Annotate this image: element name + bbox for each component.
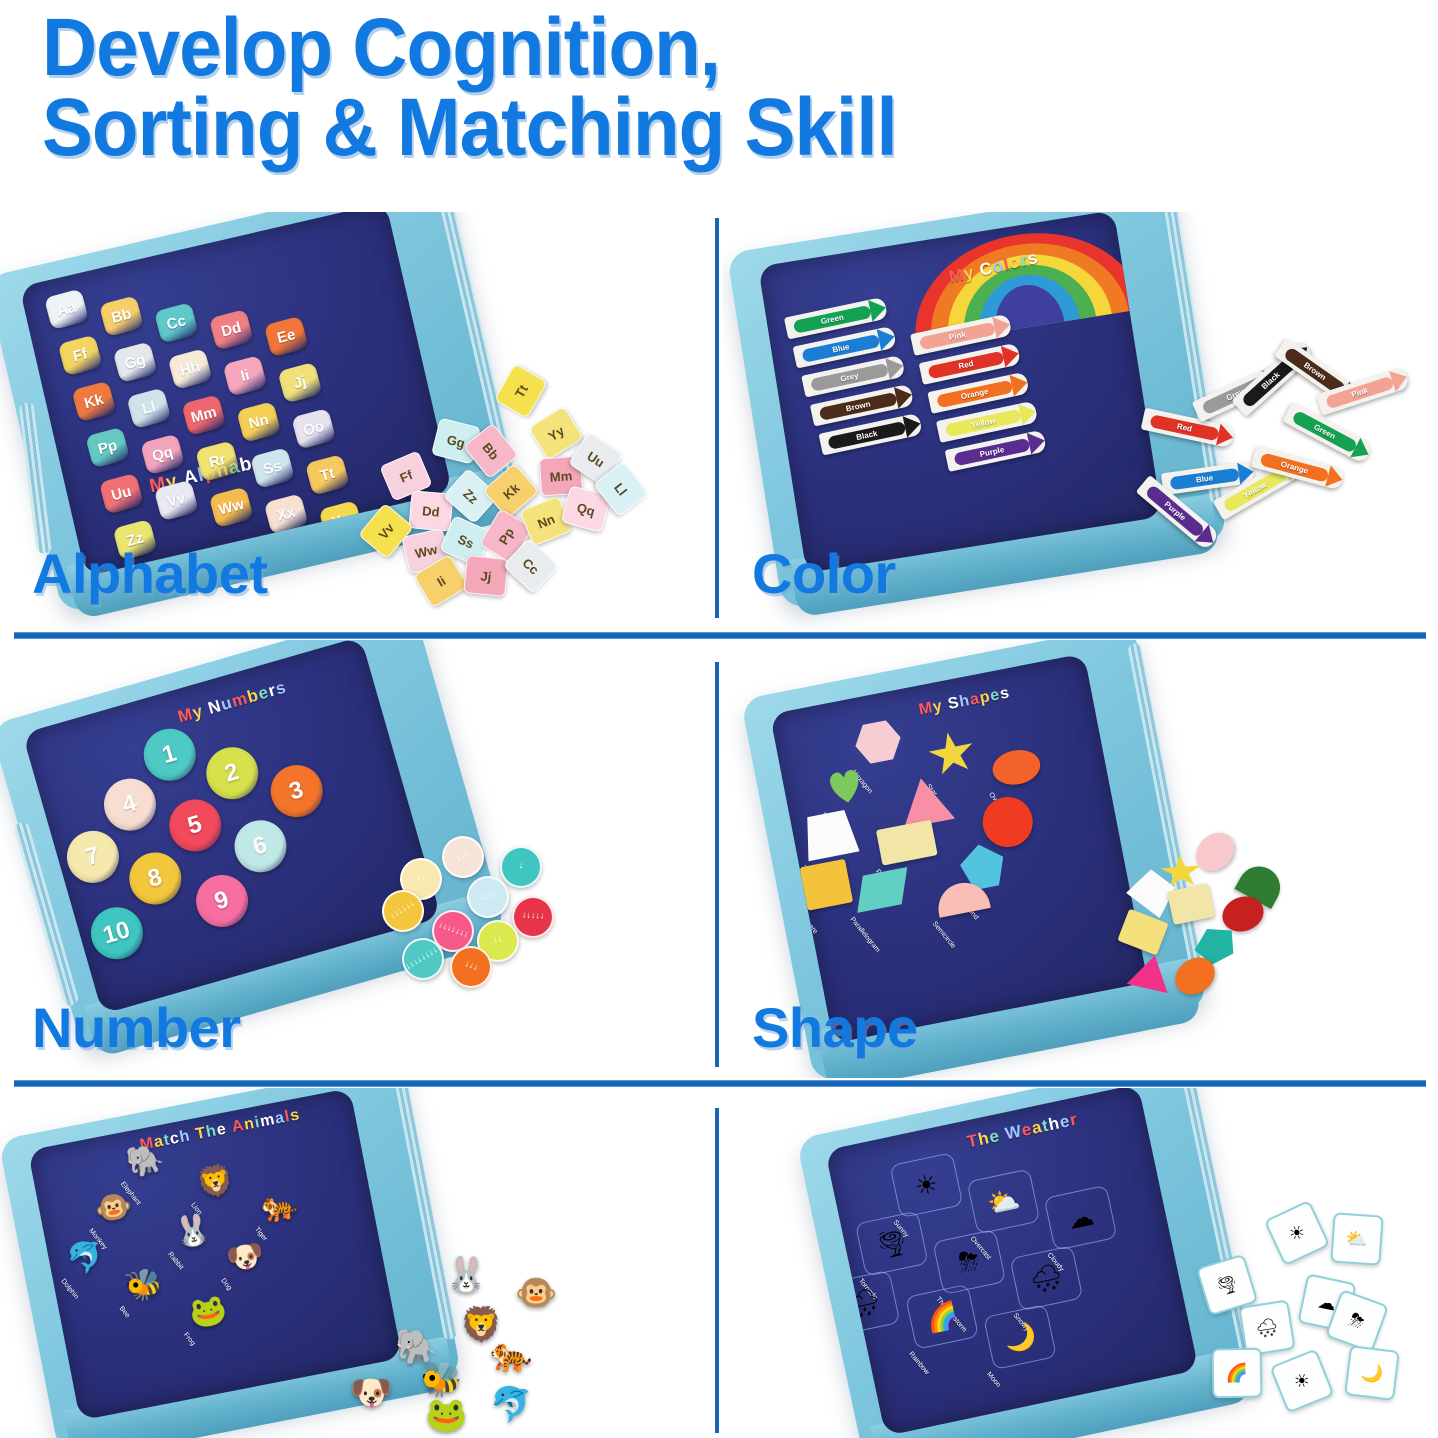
crayon-tip-icon xyxy=(1010,372,1030,397)
weather-sunny-cell[interactable]: ☀ xyxy=(890,1152,964,1218)
panel-animal: Match The Animals 🐘Elephant🦁Lion🐵Monkey🐅… xyxy=(0,1088,712,1438)
weather-card[interactable]: 🌈 xyxy=(1212,1348,1263,1399)
shape-label: Semicircle xyxy=(931,920,957,950)
shape-parallelogram[interactable] xyxy=(850,866,914,912)
number-circle-8[interactable]: 8 xyxy=(123,846,187,910)
loose-shape-pieces[interactable] xyxy=(1122,835,1372,1025)
weather-card[interactable]: ☀ xyxy=(1269,1348,1334,1413)
letter-tile-gg[interactable]: Gg xyxy=(112,342,157,384)
crayon-label: Yellow xyxy=(945,408,1022,437)
loose-crayons[interactable]: RedGreyBlackBrownPinkGreenBluePurpleYell… xyxy=(1132,362,1432,592)
crayon-label: Black xyxy=(827,420,906,449)
cover-title-weather: The Weather xyxy=(965,1109,1080,1152)
number-circle-10[interactable]: 10 xyxy=(84,901,148,965)
loose-animal-piece[interactable]: 🐝 xyxy=(420,1363,462,1397)
crayon-tip-icon xyxy=(894,384,914,409)
crayon-tip-icon xyxy=(903,413,923,438)
weather-card[interactable]: ⛅ xyxy=(1330,1212,1383,1265)
letter-tile-ii[interactable]: Ii xyxy=(222,355,267,397)
animal-elephant-icon[interactable]: 🐘 xyxy=(124,1143,166,1180)
letter-tile-jj[interactable]: Jj xyxy=(277,362,322,404)
weather-rainy-icon: 🌧 xyxy=(844,1284,883,1321)
crayon-tip-icon xyxy=(1389,366,1410,392)
weather-label: Rainy xyxy=(829,1337,846,1355)
letter-tile-ll[interactable]: Ll xyxy=(126,388,171,430)
crayon-tip-icon xyxy=(886,355,906,380)
letter-tile-tt[interactable]: Tt xyxy=(304,454,349,496)
animal-label: Dog xyxy=(219,1277,233,1291)
weather-card[interactable]: 🌙 xyxy=(1344,1345,1400,1401)
animal-lion-icon[interactable]: 🦁 xyxy=(194,1164,236,1201)
alphabet-tile-grid: AaBbCcDdEeFfGgHhIiJjKkLlMmNnOoPpQqRrSsTt… xyxy=(19,212,385,287)
panel-label-shape: Shape xyxy=(752,995,918,1060)
letter-tile-ee[interactable]: Ee xyxy=(263,316,308,358)
weather-label: Moon xyxy=(985,1371,1002,1389)
loose-animal-piece[interactable]: 🐅 xyxy=(490,1338,532,1372)
book-cover-shape: My Shapes HexagonStarHeartOvalTrapezoidT… xyxy=(770,653,1148,1043)
panel-label-color: Color xyxy=(752,541,896,606)
weather-moon-cell[interactable]: 🌙 xyxy=(983,1304,1057,1370)
weather-rainbow-icon: 🌈 xyxy=(923,1298,961,1335)
loose-letter-tiles[interactable]: TtFfGgBbYyDdZzKkMmUuVvWwSsPpNnQqLlIiJjCc xyxy=(350,362,680,612)
loose-animal-piece[interactable]: 🐬 xyxy=(490,1388,532,1422)
crayon-tip-icon xyxy=(1216,424,1235,449)
number-circle-4[interactable]: 4 xyxy=(97,773,161,837)
panel-shape: Shape My Shapes HexagonStarHeartOvalTrap… xyxy=(722,640,1438,1078)
letter-tile-uu[interactable]: Uu xyxy=(98,473,143,515)
loose-letter-chip[interactable]: Jj xyxy=(463,555,509,597)
crayon-label: Green xyxy=(1291,409,1358,453)
crayon-label: Green xyxy=(793,304,872,333)
loose-animal-piece[interactable]: 🐵 xyxy=(515,1276,557,1310)
crayon-tip-icon xyxy=(1027,430,1047,455)
animal-label: Dolphin xyxy=(59,1278,79,1301)
loose-shape-oval[interactable] xyxy=(1188,825,1242,879)
number-circle-7[interactable]: 7 xyxy=(60,825,124,889)
loose-animal-piece[interactable]: 🐸 xyxy=(425,1398,467,1432)
number-circle-1[interactable]: 1 xyxy=(137,723,201,787)
weather-overcast-cell[interactable]: ⛅ xyxy=(967,1168,1041,1234)
animal-bee-icon[interactable]: 🐝 xyxy=(123,1268,165,1305)
cover-title-shape: My Shapes xyxy=(917,685,1011,720)
crayon-label: Grey xyxy=(810,362,889,391)
page-title: Develop Cognition, Sorting & Matching Sk… xyxy=(42,8,1084,169)
letter-tile-mm[interactable]: Mm xyxy=(181,395,226,437)
crayon-tip-icon xyxy=(1325,465,1345,490)
cover-title-number: My Numbers xyxy=(176,677,289,727)
number-circle-2[interactable]: 2 xyxy=(200,741,264,805)
panel-number: Number My Numbers 12345678910 ↓↓↓↓↓↓↓↓↓↓… xyxy=(0,640,712,1078)
panel-label-number: Number xyxy=(32,995,241,1060)
loose-animal-piece[interactable]: 🐘 xyxy=(395,1330,437,1364)
weather-cloudy-cell[interactable]: ☁ xyxy=(1044,1185,1118,1251)
letter-tile-aa[interactable]: Aa xyxy=(44,289,89,331)
crayon-tip-icon xyxy=(877,326,897,351)
letter-tile-pp[interactable]: Pp xyxy=(85,427,130,469)
number-circle-5[interactable]: 5 xyxy=(163,793,227,857)
weather-tornado-icon: 🌪 xyxy=(872,1225,911,1262)
shape-oval[interactable] xyxy=(990,746,1044,789)
letter-tile-bb[interactable]: Bb xyxy=(98,296,143,338)
number-circle-9[interactable]: 9 xyxy=(190,869,254,933)
weather-snowy-icon: 🌨 xyxy=(1027,1260,1066,1297)
loose-crayon-red[interactable]: Red xyxy=(1141,408,1236,449)
animal-frog-icon[interactable]: 🐸 xyxy=(187,1294,229,1331)
weather-moon-icon: 🌙 xyxy=(1001,1319,1039,1356)
crayon-label: Purple xyxy=(954,437,1031,466)
letter-tile-kk[interactable]: Kk xyxy=(71,381,116,423)
divider-vertical-3 xyxy=(715,1108,719,1433)
shape-hexagon[interactable] xyxy=(852,718,905,766)
panel-color: Color My Colors GreenBlueGreyBrownBlack … xyxy=(722,212,1438,630)
letter-tile-ww[interactable]: Ww xyxy=(208,487,253,529)
cover-title-animal: Match The Animals xyxy=(138,1106,301,1155)
letter-tile-ff[interactable]: Ff xyxy=(57,335,102,377)
crayon-label: Orange xyxy=(936,379,1013,408)
number-circle-6[interactable]: 6 xyxy=(228,814,292,878)
loose-weather-cards[interactable]: ☀⛅🌪☁🌨⛈🌈☀🌙 xyxy=(1182,1208,1432,1433)
weather-label: Rainbow xyxy=(907,1351,930,1376)
divider-horizontal-2 xyxy=(14,1080,1426,1087)
letter-tile-hh[interactable]: Hh xyxy=(167,349,212,391)
weather-thunderstorm-cell[interactable]: ⛈ xyxy=(932,1229,1006,1295)
letter-tile-dd[interactable]: Dd xyxy=(208,309,253,351)
number-circle-3[interactable]: 3 xyxy=(264,759,328,823)
panel-alphabet: Alphabet My Alphabet AaBbCcDdEeFfGgHhIiJ… xyxy=(0,212,712,630)
animal-monkey-icon[interactable]: 🐵 xyxy=(92,1190,134,1227)
letter-tile-oo[interactable]: Oo xyxy=(291,408,336,450)
shape-square[interactable] xyxy=(799,858,853,910)
animal-dog-icon[interactable]: 🐶 xyxy=(224,1240,266,1277)
animal-tiger-icon[interactable]: 🐅 xyxy=(258,1188,300,1225)
number-token[interactable]: ↓ xyxy=(500,846,543,889)
shape-round[interactable] xyxy=(978,792,1037,851)
panel-label-alphabet: Alphabet xyxy=(32,541,268,606)
loose-shape-rectangle[interactable] xyxy=(1167,883,1215,925)
loose-animal-piece[interactable]: 🐶 xyxy=(350,1376,392,1410)
loose-number-tokens[interactable]: ↓↓↓↓↓↓↓↓↓↓↓↓↓↓↓↓↓↓↓↓↓↓↓↓↓↓↓↓↓↓↓↓↓↓↓↓↓↓↓↓… xyxy=(372,828,642,1018)
divider-vertical-1 xyxy=(715,218,719,618)
weather-snowy-cell[interactable]: 🌨 xyxy=(1009,1245,1083,1311)
loose-letter-chip[interactable]: Tt xyxy=(494,363,548,418)
letter-tile-nn[interactable]: Nn xyxy=(236,401,281,443)
rainbow-graphic xyxy=(902,217,1144,345)
shape-label: Square xyxy=(799,913,819,935)
crayon-tip-icon xyxy=(1001,343,1021,368)
loose-animal-piece[interactable]: 🐰 xyxy=(445,1258,487,1292)
animal-label: Rabbit xyxy=(166,1251,184,1271)
zipper-icon xyxy=(18,402,52,555)
animal-dolphin-icon[interactable]: 🐬 xyxy=(65,1240,107,1277)
weather-thunderstorm-icon: ⛈ xyxy=(956,1244,983,1280)
crayon-label: Blue xyxy=(802,333,881,362)
shape-label: Parallelogram xyxy=(848,916,881,954)
shape-trapezoid[interactable] xyxy=(800,808,859,861)
crayon-tip-icon xyxy=(1018,401,1038,426)
weather-sunny-icon: ☀ xyxy=(912,1168,941,1203)
animal-rabbit-icon[interactable]: 🐰 xyxy=(171,1213,213,1250)
weather-card[interactable]: ☀ xyxy=(1264,1200,1330,1266)
letter-tile-cc[interactable]: Cc xyxy=(153,302,198,344)
crayon-tip-icon xyxy=(868,297,888,322)
animal-label: Frog xyxy=(181,1332,196,1348)
weather-tornado-cell[interactable]: 🌪 xyxy=(855,1211,929,1277)
loose-animal-pieces[interactable]: 🐰🐵🦁🐘🐅🐝🐶🐸🐬 xyxy=(340,1258,640,1438)
divider-vertical-2 xyxy=(715,662,719,1067)
panel-weather: The Weather ☀Sunny⛅Overcast☁Cloudy🌪Torna… xyxy=(722,1088,1438,1438)
shape-rectangle[interactable] xyxy=(876,819,938,865)
loose-shape-triangle[interactable] xyxy=(1127,951,1176,994)
weather-cloudy-icon: ☁ xyxy=(1065,1200,1097,1236)
weather-rainbow-cell[interactable]: 🌈 xyxy=(905,1284,979,1350)
divider-horizontal-1 xyxy=(14,632,1426,639)
crayon-label: Red xyxy=(928,350,1005,379)
animal-label: Bee xyxy=(117,1305,130,1319)
crayon-label: Brown xyxy=(819,391,898,420)
weather-rainy-cell[interactable]: 🌧 xyxy=(827,1270,901,1336)
weather-overcast-icon: ⛅ xyxy=(984,1183,1022,1220)
shape-star[interactable] xyxy=(925,728,979,780)
book-cover-color: My Colors GreenBlueGreyBrownBlack PinkRe… xyxy=(758,212,1162,572)
loose-shape-square[interactable] xyxy=(1117,909,1168,956)
crayon-label: Blue xyxy=(1169,467,1239,489)
